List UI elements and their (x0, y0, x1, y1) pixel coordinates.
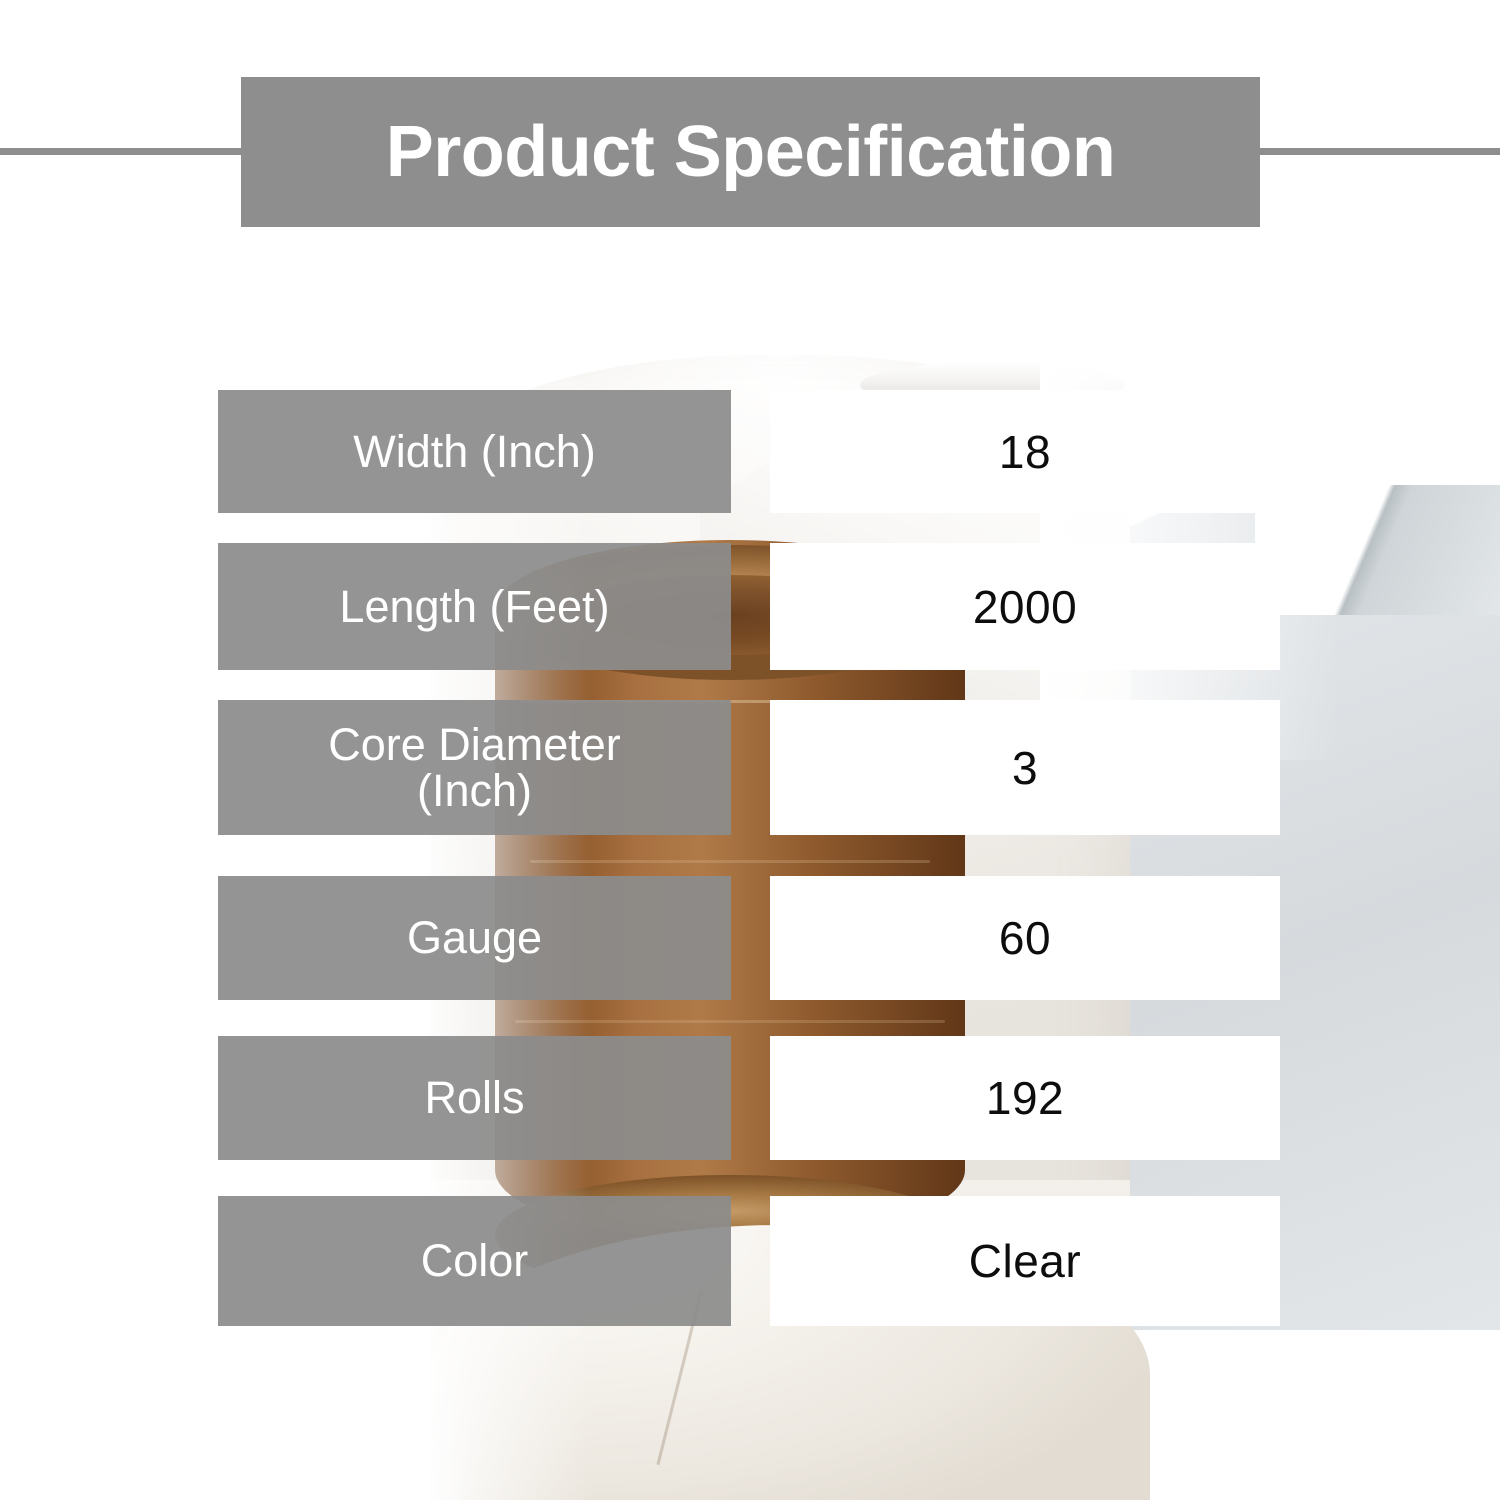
spec-value-text: Clear (969, 1238, 1081, 1284)
spec-value-text: 60 (999, 915, 1051, 961)
spec-label-cell: Gauge (218, 876, 731, 1000)
spec-label-cell: Color (218, 1196, 731, 1326)
spec-value-cell: 192 (770, 1036, 1280, 1160)
spec-value-text: 18 (999, 429, 1051, 475)
spec-value-text: 3 (1012, 745, 1038, 791)
spec-label-text: Length (Feet) (339, 584, 609, 630)
spec-label-text: Gauge (407, 915, 542, 961)
spec-label-text: Core Diameter(Inch) (328, 722, 621, 814)
spec-label-text: Rolls (424, 1075, 524, 1121)
spec-value-cell: 2000 (770, 543, 1280, 670)
spec-value-text: 192 (986, 1075, 1064, 1121)
product-specification-graphic: Product Specification Width (Inch)18Leng… (0, 0, 1500, 1500)
spec-value-text: 2000 (973, 584, 1077, 630)
spec-label-cell: Rolls (218, 1036, 731, 1160)
spec-value-cell: 60 (770, 876, 1280, 1000)
spec-value-cell: 3 (770, 700, 1280, 835)
spec-label-text: Color (421, 1238, 529, 1284)
specification-table: Width (Inch)18Length (Feet)2000Core Diam… (0, 0, 1500, 1500)
spec-label-cell: Core Diameter(Inch) (218, 700, 731, 835)
spec-label-cell: Width (Inch) (218, 390, 731, 513)
spec-label-text: Width (Inch) (353, 429, 596, 475)
spec-label-cell: Length (Feet) (218, 543, 731, 670)
spec-value-cell: 18 (770, 390, 1280, 513)
spec-value-cell: Clear (770, 1196, 1280, 1326)
